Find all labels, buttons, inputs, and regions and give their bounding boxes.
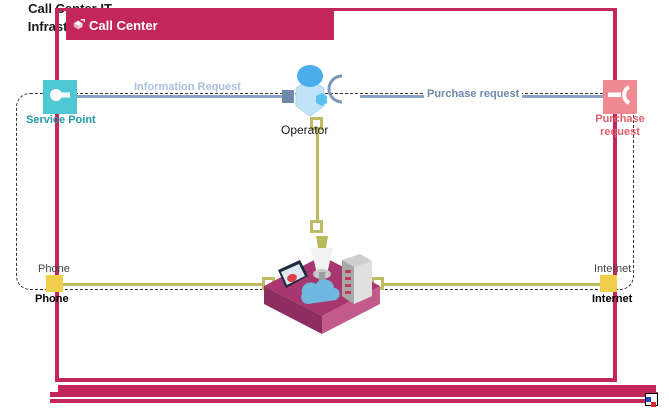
service-point-label: Service Point xyxy=(26,114,96,126)
required-interface-icon xyxy=(603,80,637,114)
port-internet-label-bottom: Internet xyxy=(592,293,632,305)
component-frame-bottom-bar-2 xyxy=(58,385,656,392)
port-phone[interactable] xyxy=(46,275,63,292)
port-internet-label-top: Internet xyxy=(594,263,631,275)
purchase-request-node[interactable] xyxy=(603,80,637,114)
component-icon xyxy=(72,18,86,32)
connector-operator-to-infrastructure[interactable] xyxy=(316,122,319,232)
resize-handle-icon[interactable] xyxy=(645,393,658,406)
service-point-node[interactable] xyxy=(43,80,77,114)
connector-infrastructure-to-internet[interactable] xyxy=(378,283,608,286)
port-internet[interactable] xyxy=(600,275,617,292)
resize-handle-glyph xyxy=(646,397,656,407)
port-phone-label-top: Phone xyxy=(38,263,70,275)
provided-interface-icon xyxy=(43,80,77,114)
operator-label: Operator xyxy=(281,123,328,137)
operator-node[interactable] xyxy=(286,62,362,124)
diagram-title-bar[interactable]: Call Center xyxy=(66,10,334,40)
component-frame-bottom-bar-1 xyxy=(55,378,617,382)
component-frame-bottom-bar-3 xyxy=(50,392,658,397)
component-frame-bottom-bar-4 xyxy=(50,399,658,403)
diagram-title: Call Center xyxy=(89,18,158,33)
port-phone-label-bottom: Phone xyxy=(35,293,69,305)
diagram-canvas: Call Center Service Point Purchase reque… xyxy=(0,0,669,410)
purchase-request-label: Purchase request xyxy=(585,113,655,139)
connector-information-request[interactable] xyxy=(72,95,286,98)
purchase-request-connection-label: Purchase request xyxy=(424,88,522,100)
connector-phone-to-infrastructure[interactable] xyxy=(56,283,268,286)
information-request-label: Information Request xyxy=(131,81,244,93)
it-infrastructure-node[interactable] xyxy=(256,228,388,334)
